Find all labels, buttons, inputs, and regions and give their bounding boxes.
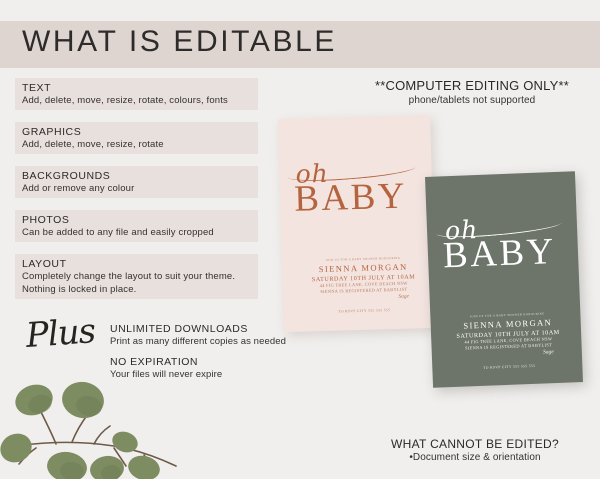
feature-desc-line2: Nothing is locked in place. <box>22 284 258 297</box>
editable-info-graphic: WHAT IS EDITABLE TEXT Add, delete, move,… <box>0 0 600 479</box>
card-signoff: Sage <box>305 293 423 302</box>
cannot-edit-title: WHAT CANNOT BE EDITED? <box>356 437 594 451</box>
perk-unlimited-downloads: UNLIMITED DOWNLOADS Print as many differ… <box>110 323 286 349</box>
perk-desc: Print as many different copies as needed <box>110 336 286 349</box>
computer-editing-notice: **COMPUTER EDITING ONLY** phone/tablets … <box>350 78 594 106</box>
computer-editing-headline: **COMPUTER EDITING ONLY** <box>350 78 594 93</box>
card-headline-baby: BABY <box>442 233 556 275</box>
feature-title: PHOTOS <box>22 214 258 227</box>
feature-desc: Completely change the layout to suit you… <box>22 271 258 284</box>
cannot-edit-item: •Document size & orientation <box>356 452 594 463</box>
eucalyptus-sprig-icon <box>0 370 194 479</box>
plus-script-word: Plus <box>25 311 97 356</box>
feature-title: LAYOUT <box>22 258 258 271</box>
feature-bar-photos: PHOTOS Can be added to any file and easi… <box>15 210 258 242</box>
feature-title: BACKGROUNDS <box>22 170 258 183</box>
feature-desc: Add or remove any colour <box>22 183 258 196</box>
feature-desc: Add, delete, move, resize, rotate, colou… <box>22 95 258 108</box>
feature-title: GRAPHICS <box>22 126 258 139</box>
feature-bar-backgrounds: BACKGROUNDS Add or remove any colour <box>15 166 258 198</box>
feature-title: TEXT <box>22 82 258 95</box>
feature-bar-text: TEXT Add, delete, move, resize, rotate, … <box>15 78 258 110</box>
card-honouree-name: SIENNA MORGAN <box>304 261 422 274</box>
feature-bar-layout: LAYOUT Completely change the layout to s… <box>15 254 258 299</box>
invitation-card-pink: oh BABY JOIN US FOR A BABY SHOWER HONOUR… <box>278 115 436 332</box>
perk-desc: Your files will never expire <box>110 369 222 382</box>
invitation-card-grey: oh BABY JOIN US FOR A BABY SHOWER HONOUR… <box>425 171 583 388</box>
computer-editing-subtext: phone/tablets not supported <box>350 95 594 106</box>
perk-title: NO EXPIRATION <box>110 356 222 369</box>
card-headline-baby: BABY <box>294 178 408 219</box>
page-title: WHAT IS EDITABLE <box>22 25 337 59</box>
feature-desc: Add, delete, move, resize, rotate <box>22 139 258 152</box>
card-rsvp: TO RSVP CITY 555 555 555 <box>305 307 423 314</box>
feature-bar-graphics: GRAPHICS Add, delete, move, resize, rota… <box>15 122 258 154</box>
feature-desc: Can be added to any file and easily crop… <box>22 227 258 240</box>
perk-title: UNLIMITED DOWNLOADS <box>110 323 286 336</box>
cannot-edit-notice: WHAT CANNOT BE EDITED? •Document size & … <box>356 437 594 463</box>
card-rsvp: TO RSVP CITY 555 555 555 <box>450 363 568 372</box>
perk-no-expiration: NO EXPIRATION Your files will never expi… <box>110 356 222 382</box>
